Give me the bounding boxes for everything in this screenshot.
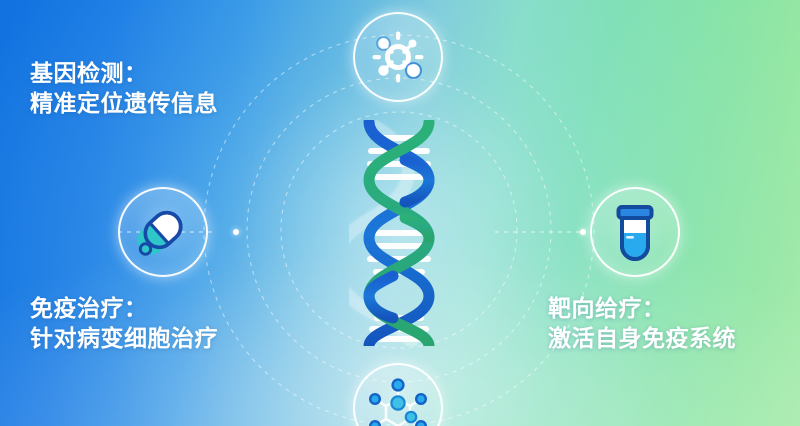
- caption-immunotherapy-line2: 针对病变细胞治疗: [30, 323, 218, 353]
- caption-gene-testing: 基因检测： 精准定位遗传信息: [30, 58, 218, 118]
- capsule-pill-icon: [133, 202, 193, 262]
- caption-gene-testing-line2: 精准定位遗传信息: [30, 88, 218, 118]
- node-capsule-pill[interactable]: [118, 187, 208, 277]
- infographic-canvas: 基因检测： 精准定位遗传信息 免疫治疗： 针对病变细胞治疗 靶向给疗： 激活自身…: [0, 0, 800, 426]
- caption-targeted-therapy-line2: 激活自身免疫系统: [548, 323, 736, 353]
- connector-dot-left: [233, 229, 239, 235]
- cell-molecule-icon: [370, 29, 426, 85]
- node-test-tube[interactable]: [590, 187, 680, 277]
- molecular-network-icon: [367, 377, 429, 426]
- dna-double-helix: [349, 120, 449, 346]
- caption-immunotherapy-line1: 免疫治疗：: [30, 293, 218, 323]
- node-cell-molecule[interactable]: [353, 12, 443, 102]
- caption-targeted-therapy: 靶向给疗： 激活自身免疫系统: [548, 293, 736, 353]
- caption-gene-testing-line1: 基因检测：: [30, 58, 218, 88]
- caption-targeted-therapy-line1: 靶向给疗：: [548, 293, 736, 323]
- caption-immunotherapy: 免疫治疗： 针对病变细胞治疗: [30, 293, 218, 353]
- test-tube-icon: [608, 203, 662, 261]
- connector-dot-right: [580, 229, 586, 235]
